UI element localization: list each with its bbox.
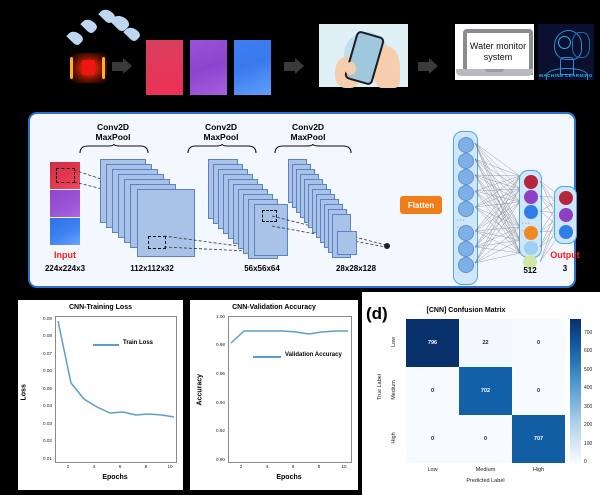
cm-colorbar-tick-400: 400 <box>584 385 592 391</box>
chart-confusion-matrix: (d) [CNN] Confusion Matrix 796 22 0 0 70… <box>362 292 600 495</box>
input-dim-label: 224x224x3 <box>34 264 96 273</box>
conv-block-1-op2: MaxPool <box>96 132 131 142</box>
output-label: Output <box>530 250 600 260</box>
feature-maps-block-3 <box>288 159 408 264</box>
cm-colorbar-tick-700: 700 <box>584 330 592 336</box>
cm-ytick-high: High <box>391 428 397 448</box>
output-count-label: 3 <box>530 264 600 273</box>
validation-accuracy-xtick-6: 6 <box>287 464 299 469</box>
training-loss-ytick-3: 0.03 <box>26 421 52 426</box>
validation-accuracy-xlabel: Epochs <box>228 474 350 481</box>
chart-training-loss: CNN-Training Loss 0.09 0.08 0.07 0.06 0.… <box>18 300 183 490</box>
output-column <box>554 186 577 244</box>
conv-block-2-op1: Conv2D <box>205 122 237 132</box>
validation-accuracy-ytick-098: 0.98 <box>198 342 225 347</box>
cm-cell-2-2: 707 <box>512 415 565 463</box>
flatten-block: Flatten <box>400 196 442 214</box>
training-loss-xtick-10: 10 <box>164 464 176 469</box>
cm-cell-1-1: 702 <box>459 367 512 415</box>
block-1-dim: 112x112x32 <box>112 264 192 273</box>
training-loss-ytick-7: 0.07 <box>26 351 52 356</box>
block-3-dim: 28x28x128 <box>316 264 396 273</box>
validation-accuracy-title: CNN-Validation Accuracy <box>190 304 358 311</box>
cm-colorbar-tick-300: 300 <box>584 404 592 410</box>
water-droplets-icon <box>62 8 132 50</box>
cm-colorbar-tick-200: 200 <box>584 422 592 428</box>
input-label: Input <box>36 250 94 260</box>
cm-colorbar-tick-100: 100 <box>584 441 592 447</box>
training-loss-xlabel: Epochs <box>55 474 175 481</box>
validation-accuracy-ytick-092: 0.92 <box>198 428 225 433</box>
validation-accuracy-ytick-100: 1.00 <box>198 314 225 319</box>
conv-block-3-op1: Conv2D <box>292 122 324 132</box>
cm-colorbar <box>570 319 581 463</box>
training-loss-xtick-6: 6 <box>114 464 126 469</box>
cm-xtick-low: Low <box>406 467 459 473</box>
training-loss-xtick-8: 8 <box>140 464 152 469</box>
ai-caption: MACHINE LEARNING <box>538 73 594 78</box>
laptop-water-monitor-system: Water monitor system <box>455 24 534 80</box>
validation-accuracy-xtick-2: 2 <box>235 464 247 469</box>
cm-cell-2-0: 0 <box>406 415 459 463</box>
output-class-medium: Medium <box>579 210 600 220</box>
arrow-2 <box>284 58 305 75</box>
cm-colorbar-tick-500: 500 <box>584 367 592 373</box>
blue-sample <box>234 40 271 95</box>
validation-accuracy-ylabel: Accuracy <box>197 366 204 406</box>
cm-ytick-medium: Medium <box>391 374 397 406</box>
cm-xlabel: Predicted Label <box>406 478 565 484</box>
training-loss-legend-line <box>93 344 119 346</box>
cm-xtick-medium: Medium <box>459 467 512 473</box>
cm-cell-0-0: 796 <box>406 319 459 367</box>
validation-accuracy-legend-line <box>253 356 281 358</box>
laptop-screen-text: Water monitor system <box>467 33 529 71</box>
validation-accuracy-xtick-4: 4 <box>261 464 273 469</box>
training-loss-ytick-1: 0.01 <box>26 456 52 461</box>
cnn-architecture-panel: Conv2D MaxPool Conv2D MaxPool Conv2D Max… <box>28 112 576 288</box>
cm-cell-0-2: 0 <box>512 319 565 367</box>
cm-cell-0-1: 22 <box>459 319 512 367</box>
cm-ytick-low: Low <box>391 332 397 352</box>
training-loss-plot <box>55 316 177 463</box>
arrow-3 <box>418 58 439 75</box>
training-loss-xtick-2: 2 <box>62 464 74 469</box>
laptop-screen-line2: system <box>470 52 526 63</box>
chart-validation-accuracy: CNN-Validation Accuracy 1.00 0.98 0.96 0… <box>190 300 358 490</box>
red-sample <box>146 40 183 95</box>
training-loss-ytick-4: 0.04 <box>26 403 52 408</box>
training-loss-ylabel: Loss <box>21 371 28 401</box>
cm-ylabel: True Label <box>377 365 383 409</box>
cm-cell-1-0: 0 <box>406 367 459 415</box>
output-class-low: low <box>579 227 593 237</box>
block-2-dim: 56x56x64 <box>222 264 302 273</box>
cm-colorbar-tick-0: 0 <box>584 459 587 465</box>
output-class-high: High <box>579 193 598 203</box>
training-loss-xtick-4: 4 <box>88 464 100 469</box>
cm-xtick-high: High <box>512 467 565 473</box>
purple-sample <box>190 40 227 95</box>
dense-connections <box>474 131 524 283</box>
validation-accuracy-legend-label: Validation Accuracy <box>285 352 342 358</box>
conv-block-2-op2: MaxPool <box>204 132 239 142</box>
pipeline-row: Water monitor system MACHINE LEARNING <box>0 0 600 105</box>
ai-head-icon: MACHINE LEARNING <box>538 24 594 80</box>
conv-block-3-label: Conv2D MaxPool <box>273 122 343 142</box>
conv-block-3-op2: MaxPool <box>291 132 326 142</box>
validation-accuracy-ytick-090: 0.90 <box>198 457 225 462</box>
conv-block-1-op1: Conv2D <box>97 122 129 132</box>
brace-3 <box>273 144 353 154</box>
arrow-1 <box>112 58 133 75</box>
conv-block-2-label: Conv2D MaxPool <box>186 122 256 142</box>
training-loss-ytick-6: 0.06 <box>26 368 52 373</box>
training-loss-ytick-8: 0.08 <box>26 333 52 338</box>
training-loss-title: CNN-Training Loss <box>18 304 183 311</box>
confusion-matrix-title: [CNN] Confusion Matrix <box>392 307 540 314</box>
brace-2 <box>186 144 258 154</box>
validation-accuracy-xtick-8: 8 <box>313 464 325 469</box>
cm-cell-2-1: 0 <box>459 415 512 463</box>
hand-holding-phone-icon <box>319 24 408 87</box>
cm-colorbar-tick-600: 600 <box>584 348 592 354</box>
laptop-screen-line1: Water monitor <box>470 41 526 52</box>
conv-block-1-label: Conv2D MaxPool <box>78 122 148 142</box>
training-loss-ytick-9: 0.09 <box>26 316 52 321</box>
validation-accuracy-plot <box>228 316 352 463</box>
training-loss-ytick-5: 0.05 <box>26 386 52 391</box>
cm-cell-1-2: 0 <box>512 367 565 415</box>
water-sensor-icon <box>66 52 112 84</box>
panel-letter-d: (d) <box>366 304 388 324</box>
brace-1 <box>78 144 150 154</box>
training-loss-ytick-2: 0.02 <box>26 438 52 443</box>
validation-accuracy-xtick-10: 10 <box>338 464 350 469</box>
training-loss-legend-label: Train Loss <box>123 340 153 346</box>
